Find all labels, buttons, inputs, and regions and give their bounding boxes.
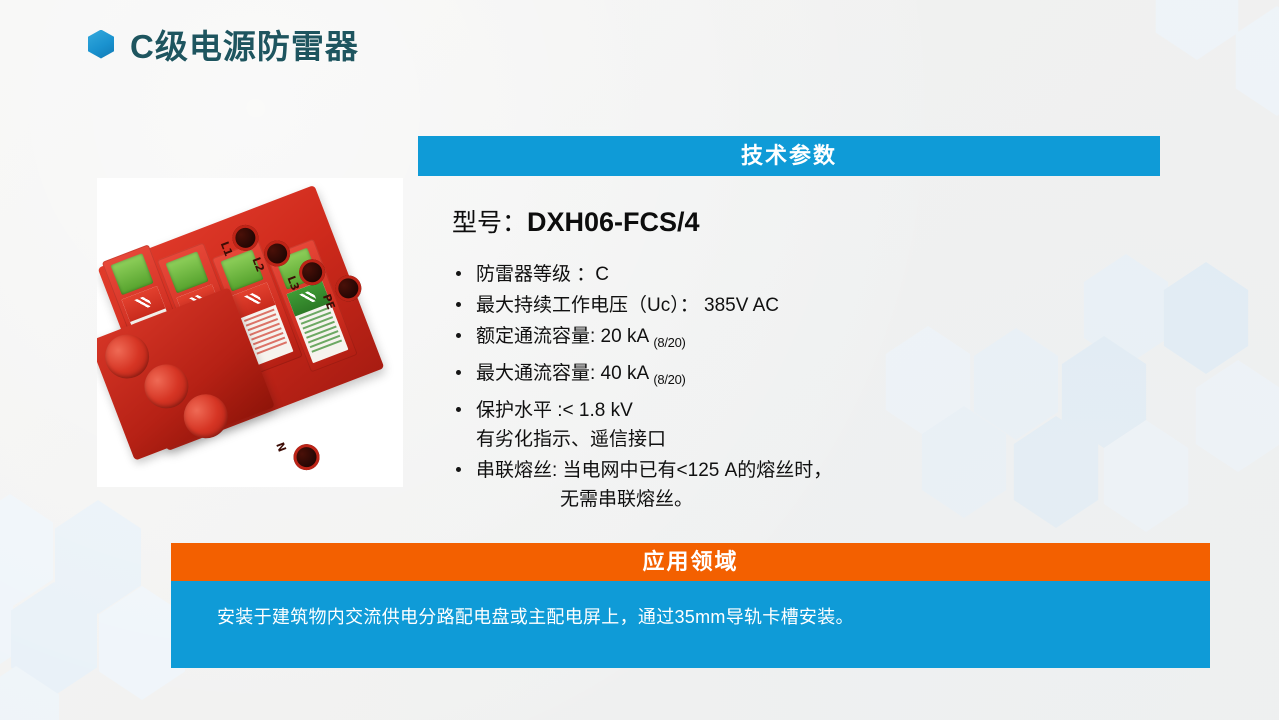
application-body: 安装于建筑物内交流供电分路配电盘或主配电屏上，通过35mm导轨卡槽安装。 xyxy=(171,581,1210,668)
terminal-label-n: N xyxy=(273,441,288,454)
spd-product-photo: L1 L2 L3 PE N xyxy=(97,178,403,487)
tech-params-header-bar: 技术参数 xyxy=(418,136,1160,176)
product-photo-stage: L1 L2 L3 PE N xyxy=(97,178,403,487)
application-panel: 应用领域 安装于建筑物内交流供电分路配电盘或主配电屏上，通过35mm导轨卡槽安装… xyxy=(171,543,1210,668)
model-value: DXH06-FCS/4 xyxy=(527,207,700,237)
spec-item-in: 额定通流容量: 20 kA (8/20) xyxy=(452,322,1152,357)
bullet-dot-icon xyxy=(456,370,461,375)
bullet-dot-icon xyxy=(456,407,461,412)
hexagon-bullet-icon xyxy=(88,30,114,59)
honeycomb-watermark-topright xyxy=(1039,0,1279,140)
page-title: C级电源防雷器 xyxy=(88,20,359,68)
spec-subscript: (8/20) xyxy=(653,335,685,350)
bullet-dot-icon xyxy=(456,271,461,276)
terminal-label-pe: PE xyxy=(320,292,338,311)
model-label: 型号： xyxy=(452,209,527,237)
spec-item-uc: 最大持续工作电压（Uc）： 385V AC xyxy=(452,291,1152,320)
spec-item-up: 保护水平 :< 1.8 kV 有劣化指示、遥信接口 xyxy=(452,396,1152,454)
terminal-n-group: N xyxy=(287,434,339,486)
application-header-bar: 应用领域 xyxy=(171,543,1210,581)
model-line: 型号：DXH06-FCS/4 xyxy=(452,203,700,239)
tech-spec-list: 防雷器等级 ：C 最大持续工作电压（Uc）： 385V AC 额定通流容量: 2… xyxy=(452,260,1152,516)
spec-text-continuation: 有劣化指示、遥信接口 xyxy=(476,425,1152,454)
spec-subscript: (8/20) xyxy=(653,372,685,387)
slide-canvas: C级电源防雷器 xyxy=(0,0,1279,720)
application-body-text: 安装于建筑物内交流供电分路配电盘或主配电屏上，通过35mm导轨卡槽安装。 xyxy=(171,581,1210,628)
page-title-text: C级电源防雷器 xyxy=(130,20,359,68)
spec-text: 串联熔丝: 当电网中已有<125 A的熔丝时， xyxy=(476,460,832,481)
application-header-label: 应用领域 xyxy=(171,543,1210,581)
bullet-dot-icon xyxy=(456,302,461,307)
spec-text: 防雷器等级 ：C xyxy=(476,264,609,285)
spec-text: 最大通流容量: 40 kA xyxy=(476,363,653,384)
terminal-n xyxy=(290,440,324,474)
bullet-dot-icon xyxy=(456,333,461,338)
spec-item-grade: 防雷器等级 ：C xyxy=(452,260,1152,289)
spec-text: 额定通流容量: 20 kA xyxy=(476,326,653,347)
spec-text-continuation: 无需串联熔丝。 xyxy=(476,485,1152,514)
spec-item-fuse: 串联熔丝: 当电网中已有<125 A的熔丝时， 无需串联熔丝。 xyxy=(452,456,1152,514)
terminal-pe xyxy=(332,272,366,306)
spec-text: 保护水平 :< 1.8 kV xyxy=(476,400,633,421)
spec-item-imax: 最大通流容量: 40 kA (8/20) xyxy=(452,359,1152,394)
bullet-dot-icon xyxy=(456,467,461,472)
tech-params-header-label: 技术参数 xyxy=(418,136,1160,176)
spec-text: 最大持续工作电压（Uc）： 385V AC xyxy=(476,295,779,316)
